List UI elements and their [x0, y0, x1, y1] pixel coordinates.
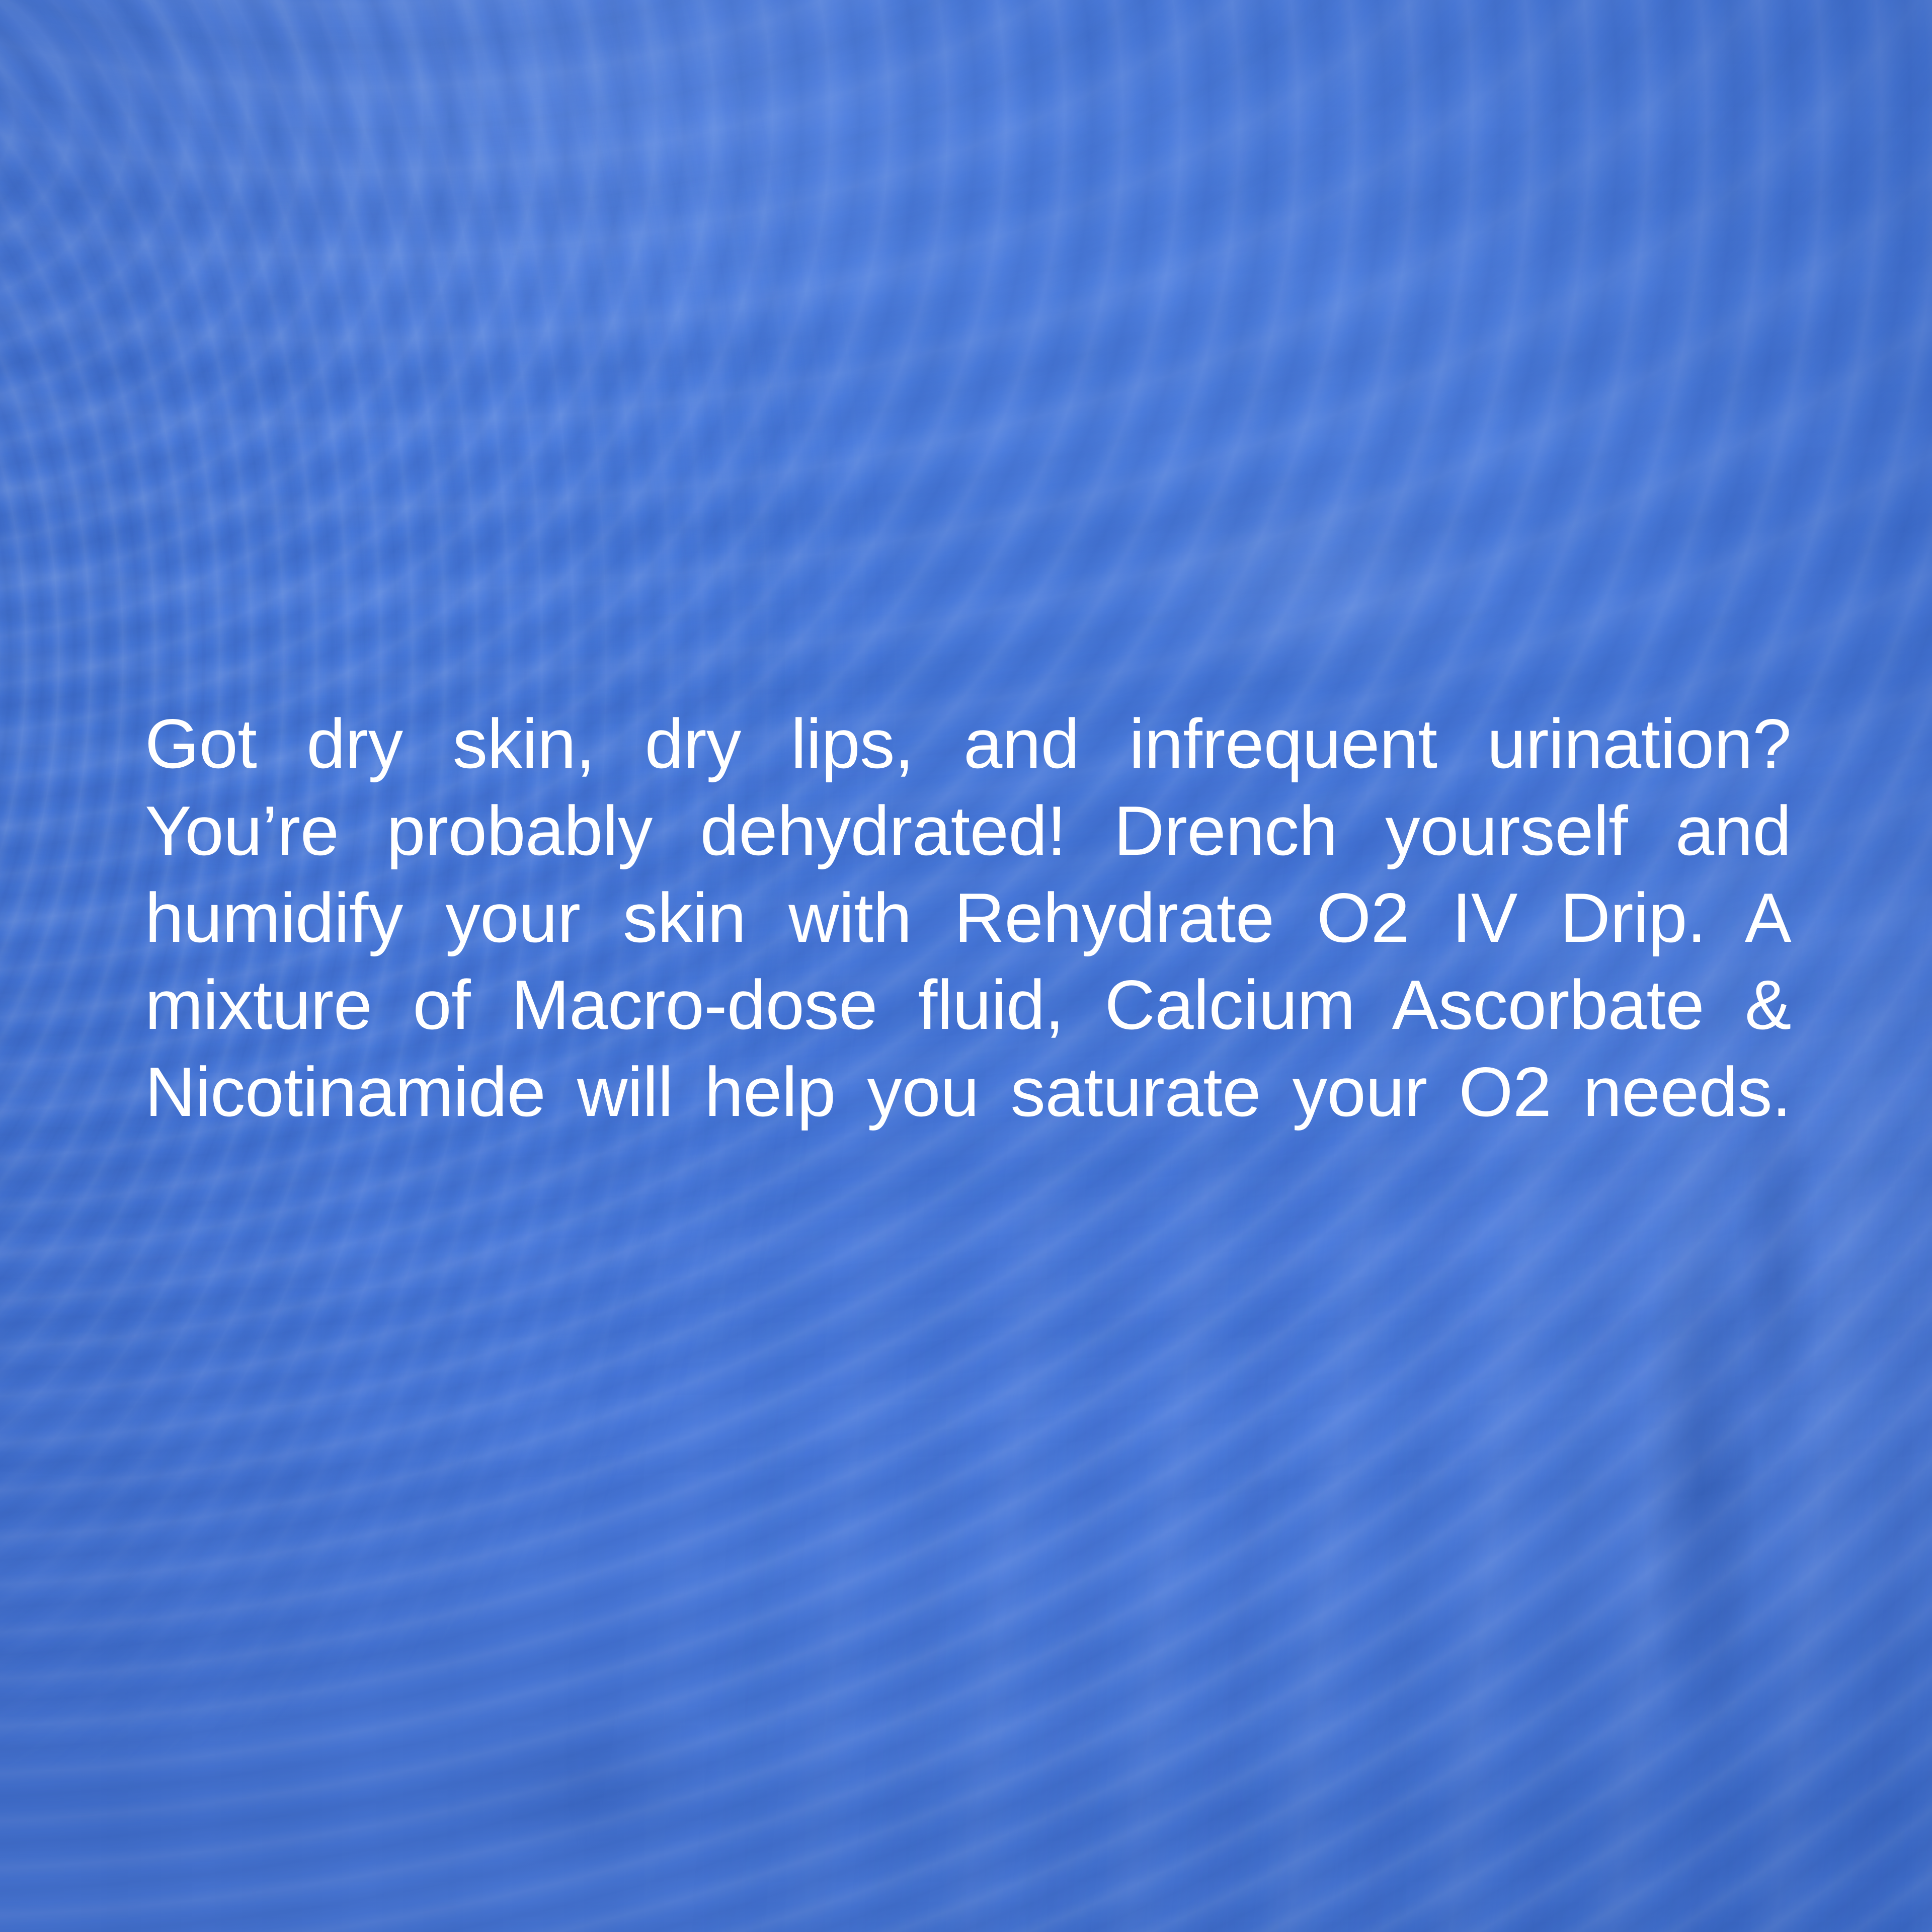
body-copy: Got dry skin, dry lips, and infrequent u…: [145, 700, 1791, 1223]
promo-poster: Got dry skin, dry lips, and infrequent u…: [0, 0, 1932, 1932]
copy-block: Got dry skin, dry lips, and infrequent u…: [145, 700, 1791, 1223]
